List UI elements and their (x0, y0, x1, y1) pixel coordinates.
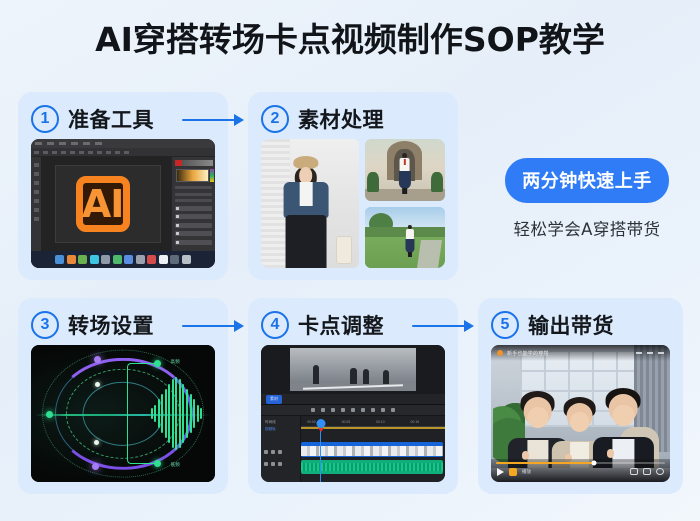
player-progress-bar[interactable] (496, 462, 665, 464)
arrow-shaft (412, 325, 465, 328)
step-2-title: 素材处理 (298, 104, 384, 134)
dock-icon-app (67, 255, 76, 264)
frame-figure (313, 365, 319, 385)
track-lock-icon (271, 462, 275, 466)
menu-icon (658, 352, 664, 354)
promo-subtitle: 轻松学会A穿搭带货 (487, 216, 687, 240)
track-visibility-icon (264, 462, 268, 466)
play-icon[interactable] (497, 468, 504, 476)
track-lock-icon (271, 450, 275, 454)
dock-icon-app (124, 255, 133, 264)
model-figure (406, 225, 414, 257)
model-black-pants (285, 215, 326, 268)
macos-dock (31, 251, 215, 268)
visualizer-node (94, 440, 99, 445)
timeline-audio-clip[interactable] (301, 460, 443, 474)
more-icon (647, 352, 653, 354)
illustrator-right-panel (171, 157, 215, 251)
settings-icon (630, 468, 638, 475)
step-2-media-photo-grid (261, 139, 445, 268)
frame-figure (350, 368, 356, 384)
dock-icon-preview (170, 255, 179, 264)
tool-icon (341, 408, 345, 412)
potted-plant-left (367, 172, 379, 192)
figure-legs (402, 188, 407, 194)
tool-icon (361, 408, 365, 412)
figure-skirt (399, 171, 411, 189)
clip-audio-waveform (301, 463, 443, 472)
dock-icon-finder (55, 255, 64, 264)
swatch-strip (175, 160, 213, 166)
transition-visualizer: 高频 低频 (31, 345, 215, 482)
picture-in-picture-icon (643, 468, 651, 475)
lawn-path (417, 240, 442, 268)
layers-list (175, 186, 212, 247)
step-5-header: 5 输出带货 (478, 298, 683, 342)
figure-tie (404, 159, 406, 166)
playhead-knob[interactable] (316, 419, 325, 428)
editor-active-tab[interactable]: 素材 (266, 395, 282, 404)
step-1-title: 准备工具 (68, 104, 154, 134)
visualizer-bracket-node (154, 360, 161, 367)
tool-icon (371, 408, 375, 412)
figure-legs (408, 252, 412, 256)
preview-frame (290, 348, 415, 390)
panel-row (175, 193, 212, 196)
gradient-swatch (176, 169, 209, 182)
step-5-media-player: 新手也能学的穿搭 播放 (491, 345, 670, 482)
progress-handle[interactable] (592, 460, 597, 465)
player-control-bar[interactable]: 播放 (491, 459, 670, 482)
tool-icon (391, 408, 395, 412)
player-title-bar: 新手也能学的穿搭 (491, 345, 670, 361)
dock-icon-app (159, 255, 168, 264)
figure-top (406, 229, 414, 240)
visualizer-bracket-node (154, 460, 161, 467)
page-title-wrap: AI穿搭转场卡点视频制作SOP教学 (0, 18, 700, 62)
track-header-video[interactable] (264, 446, 297, 458)
figure-skirt (405, 239, 414, 252)
layer-row (175, 223, 212, 228)
step-5-number-badge: 5 (491, 311, 519, 339)
presenter-face (613, 405, 634, 426)
timeline-label: 时间线 (265, 420, 276, 425)
panel-row (175, 186, 212, 189)
editor-tab-bar[interactable]: 素材 (261, 394, 445, 405)
video-player[interactable]: 新手也能学的穿搭 播放 (491, 345, 670, 482)
arrow-head-icon (234, 114, 244, 126)
editor-tool-row[interactable] (261, 405, 445, 416)
tool-icon (311, 408, 315, 412)
track-mute-icon (278, 450, 282, 454)
illustrator-app-window: AI (31, 139, 215, 268)
potted-plant-right (431, 172, 443, 192)
layer-row (175, 206, 212, 211)
step-card-2[interactable]: 2 素材处理 (248, 92, 458, 280)
dock-icon-app (113, 255, 122, 264)
infographic-page: AI穿搭转场卡点视频制作SOP教学 1 准备工具 AI (0, 0, 700, 521)
illustrator-toolbar (31, 148, 215, 157)
track-mute-icon (278, 462, 282, 466)
step-4-number-badge: 4 (261, 311, 289, 339)
layer-row (175, 240, 212, 245)
step-card-5[interactable]: 5 输出带货 (478, 298, 683, 494)
step-2-number-badge: 2 (261, 105, 289, 133)
player-right-actions[interactable] (630, 468, 664, 475)
promo-block: 两分钟快速上手 轻松学会A穿搭带货 (487, 158, 687, 240)
presenter-face (527, 407, 548, 428)
arrow-step1-to-step2 (182, 113, 244, 127)
arrow-head-icon (234, 320, 244, 332)
step-3-media-transition: 高频 低频 (31, 345, 215, 482)
fullscreen-icon (656, 468, 664, 475)
illustrator-canvas: AI (42, 157, 171, 251)
dock-icon-app (101, 255, 110, 264)
photo-model-lawn (365, 207, 445, 269)
model-tote-bag (336, 236, 352, 264)
timeline-track-headers: 时间线 视频轨 (261, 416, 301, 482)
visualizer-node (94, 356, 101, 363)
clip-thumbnails (301, 446, 443, 456)
illustrator-menubar (31, 139, 215, 148)
page-title: AI穿搭转场卡点视频制作SOP教学 (0, 18, 700, 62)
share-icon (636, 352, 642, 354)
arrow-shaft (182, 119, 235, 122)
promo-pill-badge[interactable]: 两分钟快速上手 (505, 158, 669, 203)
layer-row (175, 231, 212, 236)
dock-icon-app (147, 255, 156, 264)
step-4-media-timeline: 素材 时间线 视频轨 00 (261, 345, 445, 482)
timeline-video-clip[interactable] (301, 442, 443, 457)
presenter-right (609, 394, 638, 468)
step-4-title: 卡点调整 (298, 310, 384, 340)
step-3-number-badge: 3 (31, 311, 59, 339)
playhead-marker-icon (318, 428, 324, 432)
tool-icon (381, 408, 385, 412)
step-1-number-badge: 1 (31, 105, 59, 133)
track-visibility-icon (264, 450, 268, 454)
step-3-title: 转场设置 (68, 310, 154, 340)
photo-grid (261, 139, 445, 268)
dock-icon-app (90, 255, 99, 264)
editor-preview-monitor (261, 345, 445, 394)
photo-column (365, 139, 445, 268)
step-1-media-illustrator: AI (31, 139, 215, 268)
tool-icon (321, 408, 325, 412)
layer-row (175, 214, 212, 219)
illustrator-logo: AI (76, 176, 130, 231)
visualizer-label-top: 高频 (170, 359, 180, 365)
presenter-left (523, 397, 552, 468)
audio-waveform (151, 377, 203, 451)
dock-icon-app (78, 255, 87, 264)
timeline-playhead[interactable] (320, 422, 322, 482)
photo-model-building (365, 139, 445, 201)
presenter-face (570, 412, 590, 432)
illustrator-tool-panel (31, 157, 42, 251)
step-5-title: 输出带货 (528, 310, 614, 340)
illustrator-artboard: AI (55, 165, 161, 244)
frame-figure (383, 370, 389, 384)
arrow-head-icon (464, 320, 474, 332)
visualizer-node (46, 411, 53, 418)
tool-icon (331, 408, 335, 412)
progress-fill (496, 462, 594, 464)
visualizer-label-bottom: 低频 (170, 462, 180, 468)
color-ramp (210, 169, 214, 182)
arrow-shaft (182, 325, 235, 328)
dock-icon-trash (182, 255, 191, 264)
thumbs-up-icon (607, 449, 614, 458)
timeline-sublabel: 视频轨 (265, 427, 276, 432)
tool-icon (351, 408, 355, 412)
player-top-actions[interactable] (636, 352, 664, 354)
track-header-audio[interactable] (264, 458, 297, 470)
player-time-label: 播放 (522, 469, 531, 475)
model-white-shirt (300, 182, 313, 207)
panel-row (175, 199, 212, 202)
visualizer-node (92, 463, 99, 470)
video-editor-window: 素材 时间线 视频轨 00 (261, 345, 445, 482)
player-brand-icon (497, 350, 503, 356)
player-video-title: 新手也能学的穿搭 (507, 350, 549, 357)
illustrator-logo-text: AI (82, 185, 124, 223)
frame-figure (363, 369, 369, 384)
arrow-step3-to-step4 (182, 319, 244, 333)
step-2-header: 2 素材处理 (248, 92, 458, 136)
model-figure (400, 153, 410, 195)
photo-model-denim (261, 139, 359, 268)
arrow-step4-to-step5 (412, 319, 474, 333)
quality-badge-icon[interactable] (509, 468, 517, 476)
dock-icon-app (136, 255, 145, 264)
